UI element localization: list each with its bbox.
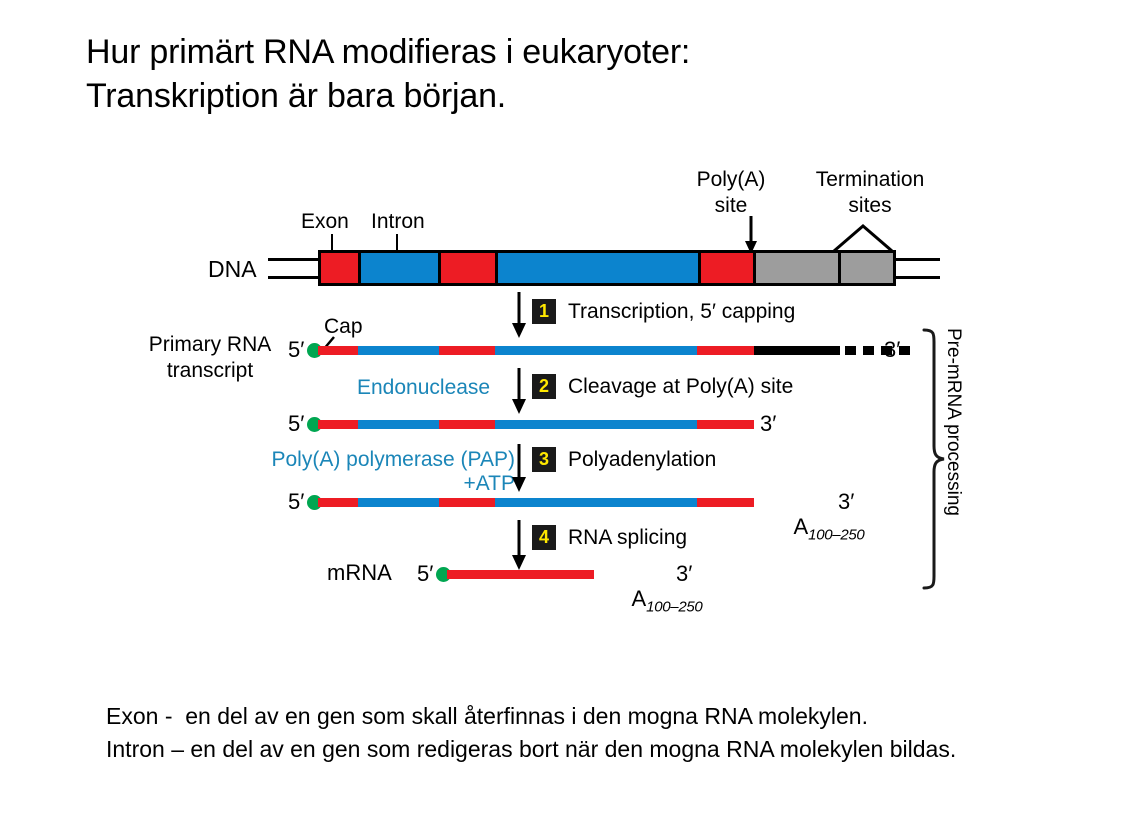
step-1: 1 Transcription, 5′ capping (532, 299, 795, 324)
primary-transcript-strand (318, 346, 840, 355)
dna-segment-terminator-2 (838, 253, 893, 283)
intron-label: Intron (371, 210, 425, 234)
polya-site-label-line1: Poly(A) (676, 168, 786, 192)
step-2-label: Cleavage at Poly(A) site (568, 375, 793, 399)
step-3-badge: 3 (532, 447, 556, 472)
caption-line-exon: Exon - en del av en gen som skall återfi… (106, 700, 1086, 733)
strand-exon-2 (439, 420, 495, 429)
dash-4 (899, 346, 910, 355)
step-3: 3 Polyadenylation (532, 447, 716, 472)
cleaved-3prime-label: 3′ (760, 411, 776, 437)
step-2: 2 Cleavage at Poly(A) site (532, 374, 793, 399)
step-2-arrow (509, 368, 529, 416)
termination-label-line1: Termination (790, 168, 950, 192)
transcript-3prime-label: 3′ (884, 337, 900, 363)
endonuclease-label: Endonuclease (357, 376, 490, 400)
polya-tail-base: A (793, 514, 808, 539)
strand-exon-2 (439, 498, 495, 507)
strand-intron-2 (495, 498, 697, 507)
caption-line-intron: Intron – en del av en gen som redigeras … (106, 733, 1086, 766)
dna-segment-intron-1 (358, 253, 438, 283)
dna-segment-exon-2 (438, 253, 495, 283)
strand-intron-1 (358, 420, 439, 429)
step-1-badge: 1 (532, 299, 556, 324)
strand-intron-1 (358, 346, 439, 355)
termination-label-line2: sites (790, 194, 950, 218)
page-title: Hur primärt RNA modifieras i eukaryoter:… (86, 30, 1086, 118)
dash-2 (863, 346, 874, 355)
step-4-badge: 4 (532, 525, 556, 550)
strand-exon-3 (697, 346, 754, 355)
mrna-label: mRNA (327, 560, 392, 585)
polyadenylated-3prime-label: 3′ (838, 489, 854, 515)
polyadenylated-5prime-label: 5′ (288, 489, 304, 515)
dna-leader-top (268, 258, 320, 261)
caption: Exon - en del av en gen som skall återfi… (106, 700, 1086, 767)
strand-intron-2 (495, 346, 697, 355)
dna-segment-intron-2 (495, 253, 698, 283)
step-1-label: Transcription, 5′ capping (568, 300, 795, 324)
mrna-3prime-label: 3′ (676, 561, 692, 587)
dna-segment-exon-1 (321, 253, 358, 283)
polya-tail-subscript: 100–250 (808, 526, 864, 543)
transcript-5prime-label: 5′ (288, 337, 304, 363)
exon-label: Exon (301, 210, 349, 234)
bracket-label: Pre-mRNA processing (942, 328, 964, 516)
cleaved-5prime-label: 5′ (288, 411, 304, 437)
step-3-arrow (509, 444, 529, 494)
polyadenylated-rna-row: 5′ A100–250 3′ (0, 490, 1140, 516)
strand-terminator-solid (754, 346, 840, 355)
strand-exon-3 (697, 498, 754, 507)
dash-1 (845, 346, 856, 355)
title-line-1: Hur primärt RNA modifieras i eukaryoter: (86, 30, 1086, 74)
strand-exon-1 (318, 498, 358, 507)
cleaved-rna-strand (318, 420, 754, 429)
mrna-polya-tail-subscript: 100–250 (646, 598, 702, 615)
strand-exon-3 (697, 420, 754, 429)
strand-exon-1 (318, 346, 358, 355)
mrna-polya-tail-base: A (631, 586, 646, 611)
step-4: 4 RNA splicing (532, 525, 687, 550)
primary-rna-transcript-row: 5′ 3′ (0, 338, 1140, 364)
cleaved-rna-row: 5′ 3′ (0, 412, 1140, 438)
polyadenylated-rna-strand (318, 498, 754, 507)
mrna-5prime-label: 5′ (417, 561, 433, 587)
strand-exon-1 (318, 420, 358, 429)
strand-intron-2 (495, 420, 697, 429)
pre-mrna-processing-bracket: Pre-mRNA processing (920, 328, 946, 595)
step-2-badge: 2 (532, 374, 556, 399)
strand-exons-joined (447, 570, 594, 579)
dna-leader-bottom (268, 276, 320, 279)
polya-site-label-line2: site (676, 194, 786, 218)
title-line-2: Transkription är bara början. (86, 74, 1086, 118)
dna-bar (318, 250, 896, 286)
step-3-label: Polyadenylation (568, 448, 716, 472)
dna-label: DNA (208, 256, 257, 282)
rna-processing-diagram: Exon Intron Poly(A) site Termination sit… (0, 150, 1140, 620)
dna-segment-terminator-1 (753, 253, 838, 283)
mrna-row: mRNA 5′ A100–250 3′ (0, 562, 1140, 588)
strand-intron-1 (358, 498, 439, 507)
step-4-label: RNA splicing (568, 526, 687, 550)
step-1-arrow (509, 292, 529, 340)
strand-exon-2 (439, 346, 495, 355)
mrna-strand (447, 570, 594, 579)
dna-segment-exon-3 (698, 253, 753, 283)
termination-caret-icon (832, 224, 894, 252)
pap-label-line1: Poly(A) polymerase (PAP) (245, 448, 515, 472)
